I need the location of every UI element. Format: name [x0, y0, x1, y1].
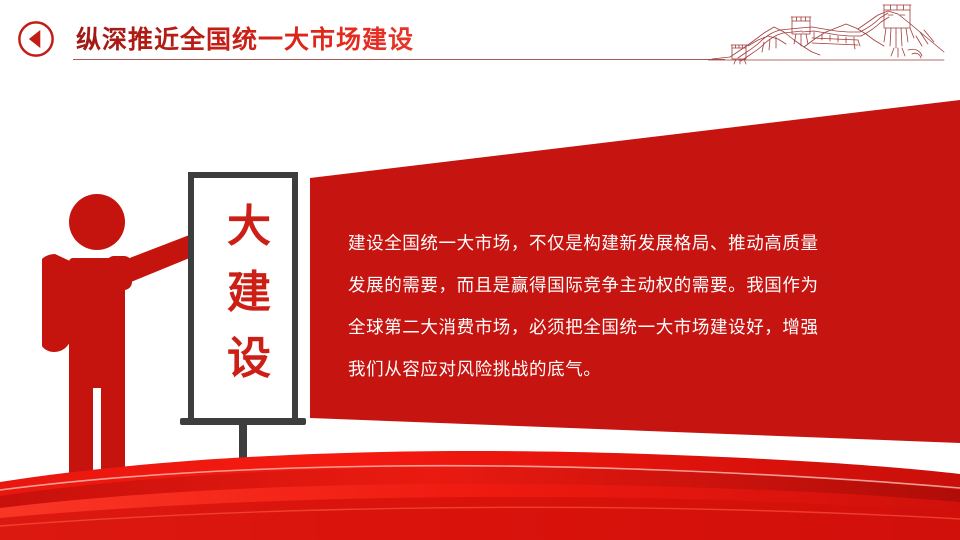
great-wall-illustration	[708, 2, 948, 72]
chevron-left-circle-icon[interactable]	[17, 20, 55, 58]
sign-characters: 大 建 设	[194, 194, 304, 392]
body-line-3: 全球第二大消费市场，必须把全国统一大市场建设好，增强	[348, 306, 914, 348]
body-paragraph: 建设全国统一大市场，不仅是构建新发展格局、推动高质量 发展的需要，而且是赢得国际…	[348, 222, 914, 390]
slide-canvas: 纵深推近全国统一大市场建设	[0, 0, 960, 540]
sign-frame: 大 建 设	[188, 172, 298, 424]
header-divider	[73, 59, 725, 60]
body-line-1: 建设全国统一大市场，不仅是构建新发展格局、推动高质量	[348, 222, 914, 264]
red-wave-ribbon	[0, 430, 960, 540]
body-line-4: 我们从容应对风险挑战的底气。	[348, 348, 914, 390]
page-title: 纵深推近全国统一大市场建设	[76, 20, 414, 56]
sign-char-2: 建	[194, 260, 304, 326]
sign-board: 大 建 设	[188, 172, 298, 440]
sign-char-3: 设	[194, 326, 304, 392]
slide-header: 纵深推近全国统一大市场建设	[0, 0, 960, 80]
body-line-2: 发展的需要，而且是赢得国际竞争主动权的需要。我国作为	[348, 264, 914, 306]
sign-char-1: 大	[194, 194, 304, 260]
